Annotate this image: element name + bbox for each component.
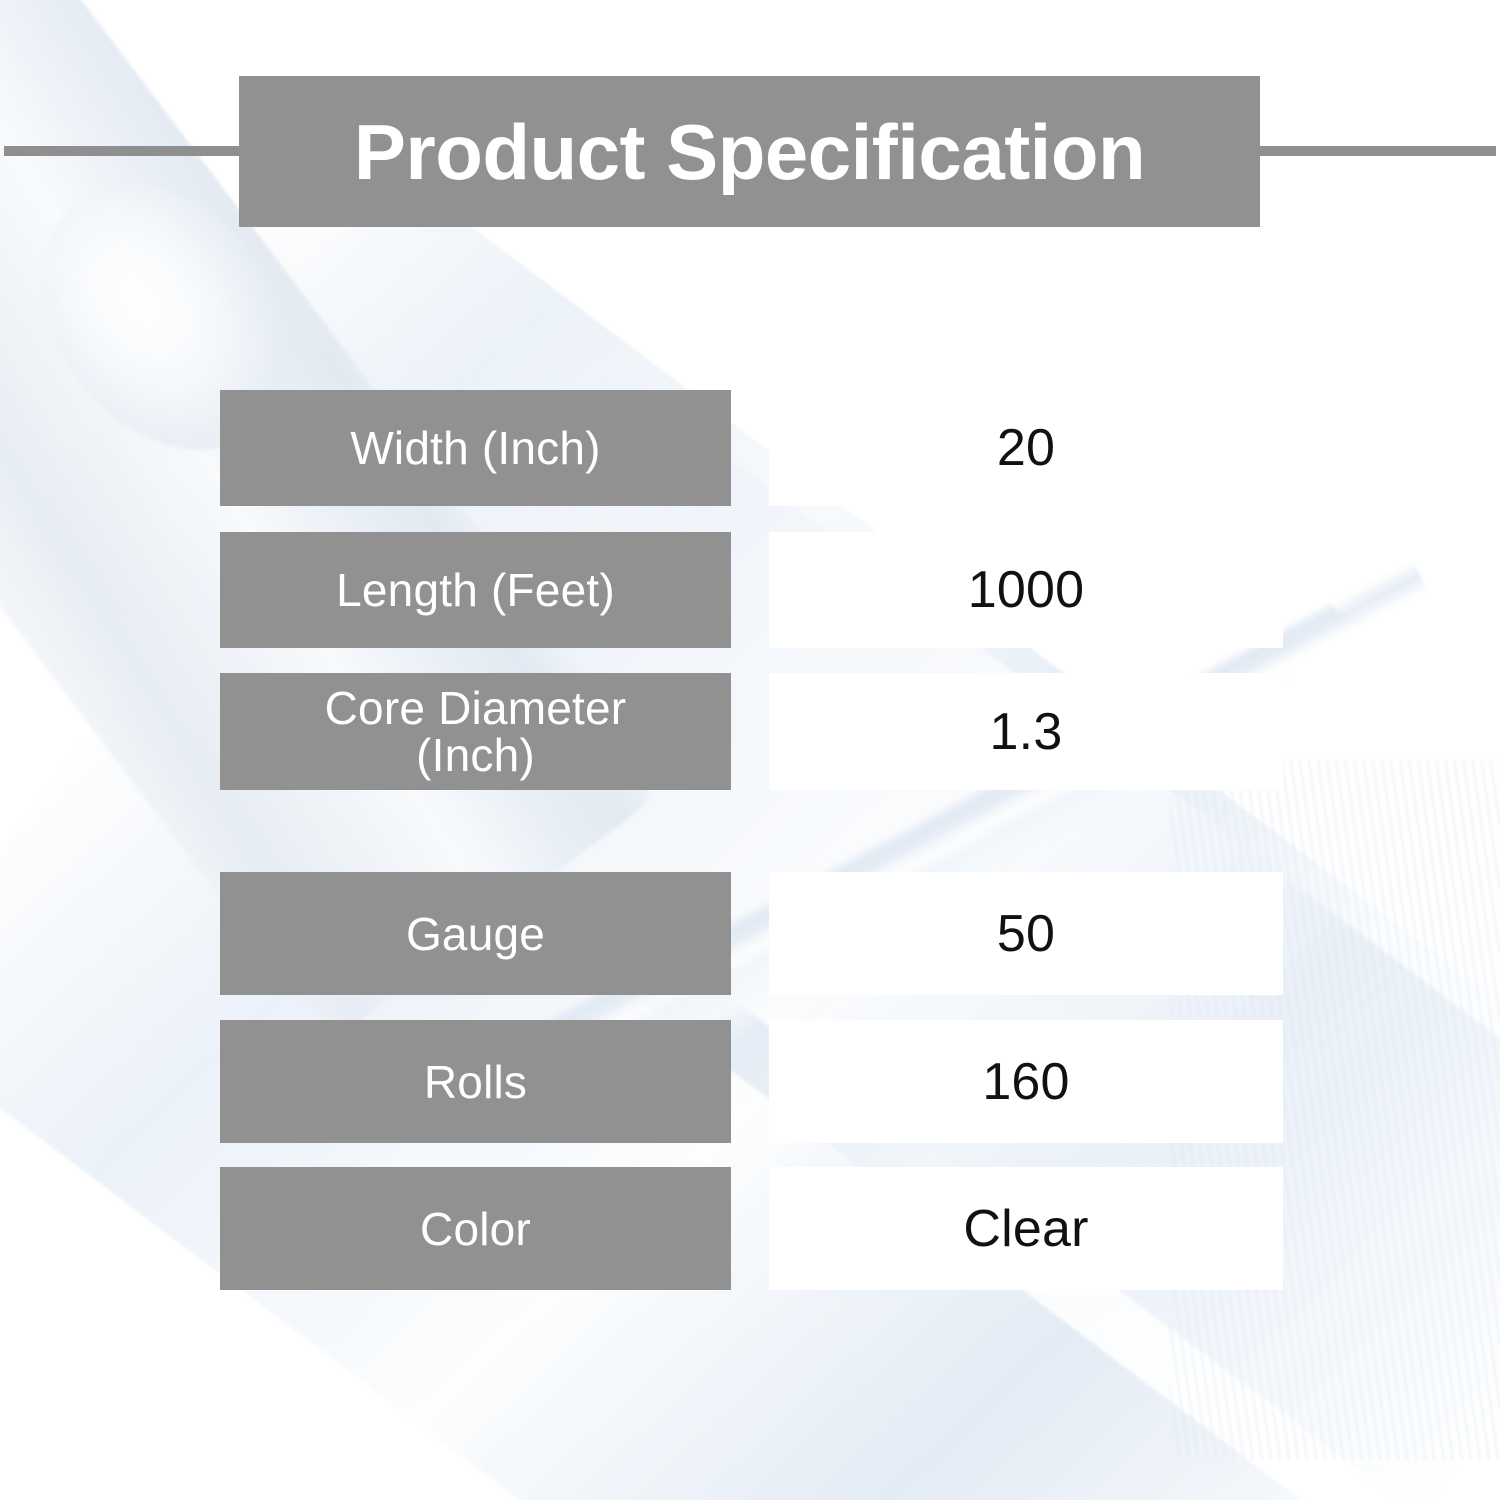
spec-label-length: Length (Feet) xyxy=(220,532,731,648)
specification-table: Width (Inch) 20 Length (Feet) 1000 Core … xyxy=(0,0,1500,1500)
spec-label-core-diameter-line2: (Inch) xyxy=(416,732,535,779)
spec-value-length: 1000 xyxy=(769,532,1283,648)
spec-value-width: 20 xyxy=(769,390,1283,506)
spec-label-gauge: Gauge xyxy=(220,872,731,995)
spec-value-core-diameter: 1.3 xyxy=(769,673,1283,790)
spec-value-color: Clear xyxy=(769,1167,1283,1290)
spec-value-rolls: 160 xyxy=(769,1020,1283,1143)
product-specification-page: Product Specification Width (Inch) 20 Le… xyxy=(0,0,1500,1500)
spec-label-color: Color xyxy=(220,1167,731,1290)
spec-label-width: Width (Inch) xyxy=(220,390,731,506)
spec-value-gauge: 50 xyxy=(769,872,1283,995)
spec-label-rolls: Rolls xyxy=(220,1020,731,1143)
spec-label-core-diameter: Core Diameter (Inch) xyxy=(220,673,731,790)
spec-label-core-diameter-line1: Core Diameter xyxy=(325,685,627,732)
